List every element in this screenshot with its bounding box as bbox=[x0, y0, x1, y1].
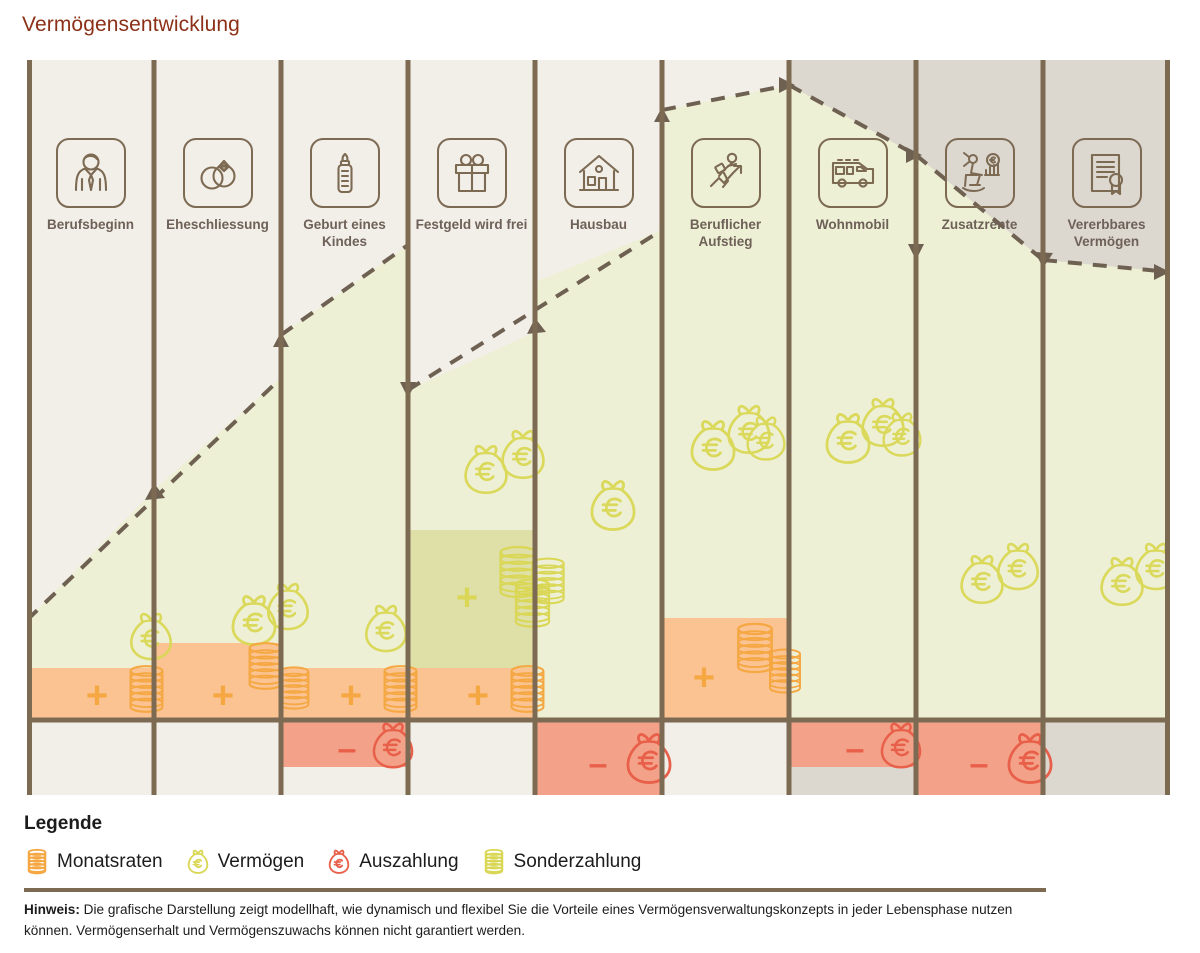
column-header-8[interactable]: Vererbbares Vermögen bbox=[1043, 138, 1170, 251]
legend-label: Auszahlung bbox=[359, 851, 458, 873]
footnote: Hinweis: Die grafische Darstellung zeigt… bbox=[24, 899, 1054, 941]
wealth-development-chart: + + + + + + – bbox=[27, 60, 1170, 795]
column-header-0[interactable]: Berufsbeginn bbox=[27, 138, 154, 234]
footnote-lead: Hinweis: bbox=[24, 902, 80, 917]
camper-van-icon bbox=[818, 138, 888, 208]
legend-item-sonderzahlung: Sonderzahlung bbox=[481, 847, 642, 877]
column-header-3[interactable]: Festgeld wird frei bbox=[408, 138, 535, 234]
column-label: Geburt eines Kindes bbox=[283, 217, 407, 251]
house-icon bbox=[564, 138, 634, 208]
legend-item-auszahlung: Auszahlung bbox=[326, 847, 458, 877]
coin-stack-icon bbox=[481, 847, 507, 877]
column-label: Beruflicher Aufstieg bbox=[664, 217, 788, 251]
svg-text:+: + bbox=[86, 675, 108, 717]
svg-text:+: + bbox=[456, 577, 478, 619]
svg-text:+: + bbox=[212, 675, 234, 717]
certificate-seal-icon bbox=[1072, 138, 1142, 208]
money-bag-icon bbox=[185, 847, 211, 877]
column-label: Eheschliessung bbox=[156, 217, 280, 234]
legend-label: Monatsraten bbox=[57, 851, 163, 873]
coin-stack-icon bbox=[24, 847, 50, 877]
legend-title: Legende bbox=[24, 813, 102, 835]
column-label: Berufsbeginn bbox=[29, 217, 153, 234]
divider bbox=[24, 888, 1046, 892]
column-header-1[interactable]: Eheschliessung bbox=[154, 138, 281, 234]
legend-item-monatsraten: Monatsraten bbox=[24, 847, 163, 877]
career-growth-icon bbox=[691, 138, 761, 208]
svg-text:–: – bbox=[846, 730, 865, 768]
businessman-icon bbox=[56, 138, 126, 208]
column-label: Festgeld wird frei bbox=[410, 217, 534, 234]
column-header-6[interactable]: Wohnmobil bbox=[789, 138, 916, 234]
gift-icon bbox=[437, 138, 507, 208]
column-label: Vererbbares Vermögen bbox=[1045, 217, 1169, 251]
column-label: Hausbau bbox=[537, 217, 661, 234]
wedding-rings-icon bbox=[183, 138, 253, 208]
legend: Monatsraten Vermögen bbox=[24, 847, 663, 877]
rocking-chair-euro-icon bbox=[945, 138, 1015, 208]
footnote-text: Die grafische Darstellung zeigt modellha… bbox=[24, 902, 1012, 938]
legend-item-vermoegen: Vermögen bbox=[185, 847, 305, 877]
svg-text:+: + bbox=[693, 657, 715, 699]
svg-text:–: – bbox=[589, 745, 608, 783]
svg-text:+: + bbox=[467, 675, 489, 717]
column-header-4[interactable]: Hausbau bbox=[535, 138, 662, 234]
legend-label: Vermögen bbox=[218, 851, 305, 873]
svg-text:–: – bbox=[970, 745, 989, 783]
svg-text:–: – bbox=[338, 730, 357, 768]
column-header-5[interactable]: Beruflicher Aufstieg bbox=[662, 138, 789, 251]
svg-text:+: + bbox=[340, 675, 362, 717]
baby-bottle-icon bbox=[310, 138, 380, 208]
legend-label: Sonderzahlung bbox=[514, 851, 642, 873]
column-label: Zusatzrente bbox=[918, 217, 1042, 234]
money-bag-icon bbox=[326, 847, 352, 877]
column-header-2[interactable]: Geburt eines Kindes bbox=[281, 138, 408, 251]
page-title: Vermögensentwicklung bbox=[22, 13, 240, 37]
column-label: Wohnmobil bbox=[791, 217, 915, 234]
column-header-7[interactable]: Zusatzrente bbox=[916, 138, 1043, 234]
